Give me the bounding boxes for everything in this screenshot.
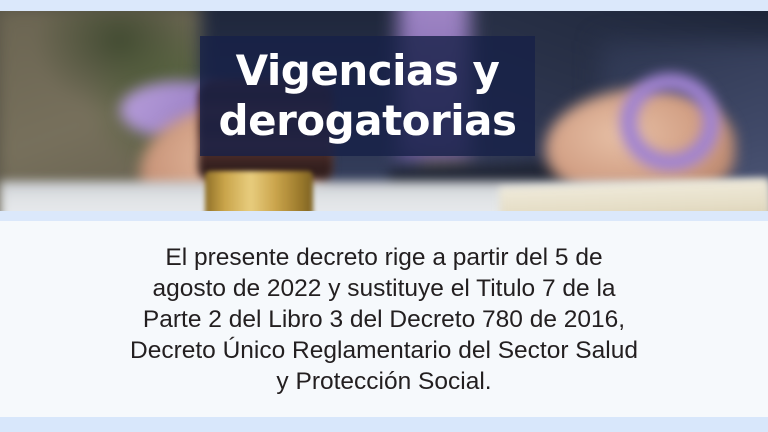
slide-title: Vigencias y derogatorias xyxy=(219,46,517,145)
body-section: El presente decreto rige a partir del 5 … xyxy=(0,221,768,417)
slide-canvas: Vigencias y derogatorias El presente dec… xyxy=(0,0,768,432)
middle-accent-bar xyxy=(0,211,768,221)
photo-gavel-brass-band xyxy=(205,171,313,211)
title-overlay-box: Vigencias y derogatorias xyxy=(200,36,535,156)
photo-cuff-right xyxy=(620,73,720,171)
bottom-accent-bar xyxy=(0,417,768,432)
top-accent-bar xyxy=(0,0,768,11)
slide-body-text: El presente decreto rige a partir del 5 … xyxy=(84,242,684,397)
